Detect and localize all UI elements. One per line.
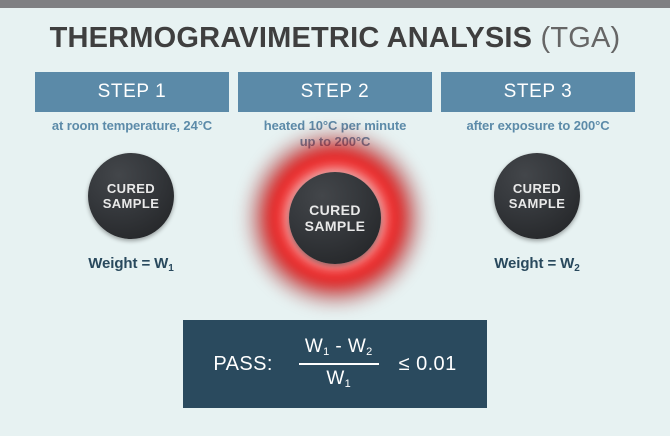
window-title-bar (0, 0, 670, 8)
fraction-numerator: W1 - W2 (299, 336, 379, 360)
cured-sample-disc-1: CURED SAMPLE (88, 153, 174, 239)
step-caption-1: at room temperature, 24°C (35, 118, 229, 150)
step-header-row: STEP 1 STEP 2 STEP 3 (35, 72, 635, 112)
threshold-value: 0.01 (416, 353, 457, 376)
cured-sample-label-3-line1: CURED (509, 181, 566, 196)
cured-sample-disc-3: CURED SAMPLE (494, 153, 580, 239)
pass-label: PASS: (213, 353, 272, 376)
comparator-symbol: ≤ (399, 353, 410, 376)
sample-puck-step-2: CURED SAMPLE (240, 124, 430, 312)
cured-sample-disc-2: CURED SAMPLE (289, 172, 381, 264)
numerator-w1: W (305, 336, 323, 357)
weight-label-step-1-text: Weight = W (88, 255, 168, 272)
cured-sample-label-3: CURED SAMPLE (509, 181, 566, 211)
sample-puck-step-3: CURED SAMPLE (494, 153, 580, 239)
page-title-abbreviation: (TGA) (540, 22, 620, 54)
step-caption-3-line1: after exposure to 200°C (441, 118, 635, 134)
weight-label-step-1-subscript: 1 (168, 263, 173, 274)
cured-sample-label-1-line2: SAMPLE (103, 196, 160, 211)
weight-loss-fraction: W1 - W2 W1 (299, 336, 379, 392)
step-caption-3: after exposure to 200°C (441, 118, 635, 150)
cured-sample-label-3-line2: SAMPLE (509, 196, 566, 211)
weight-label-step-3-subscript: 2 (574, 263, 579, 274)
weight-label-step-1: Weight = W1 (31, 255, 231, 272)
pass-criterion-box: PASS: W1 - W2 W1 ≤ 0.01 (183, 320, 487, 408)
step-header-1: STEP 1 (35, 72, 229, 112)
cured-sample-label-2-line2: SAMPLE (305, 218, 366, 234)
cured-sample-label-1: CURED SAMPLE (103, 181, 160, 211)
weight-label-step-3: Weight = W2 (437, 255, 637, 272)
numerator-w2-subscript: 2 (366, 346, 373, 358)
numerator-operator: - (335, 336, 342, 357)
cured-sample-label-1-line1: CURED (103, 181, 160, 196)
page-title-main: THERMOGRAVIMETRIC ANALYSIS (50, 22, 533, 54)
numerator-w2: W (348, 336, 366, 357)
fraction-denominator: W1 (320, 368, 357, 392)
sample-puck-step-1: CURED SAMPLE (88, 153, 174, 239)
denominator-w1-subscript: 1 (345, 378, 352, 390)
fraction-bar (299, 363, 379, 365)
cured-sample-label-2: CURED SAMPLE (305, 202, 366, 234)
step-header-2: STEP 2 (238, 72, 432, 112)
step-header-3: STEP 3 (441, 72, 635, 112)
denominator-w1: W (326, 368, 344, 389)
infographic-canvas: THERMOGRAVIMETRIC ANALYSIS (TGA) STEP 1 … (0, 0, 670, 436)
numerator-w1-subscript: 1 (323, 346, 330, 358)
pass-criterion-formula: PASS: W1 - W2 W1 ≤ 0.01 (213, 336, 456, 392)
page-title: THERMOGRAVIMETRIC ANALYSIS (TGA) (0, 20, 670, 56)
cured-sample-label-2-line1: CURED (305, 202, 366, 218)
step-caption-1-line1: at room temperature, 24°C (35, 118, 229, 134)
weight-label-step-3-text: Weight = W (494, 255, 574, 272)
